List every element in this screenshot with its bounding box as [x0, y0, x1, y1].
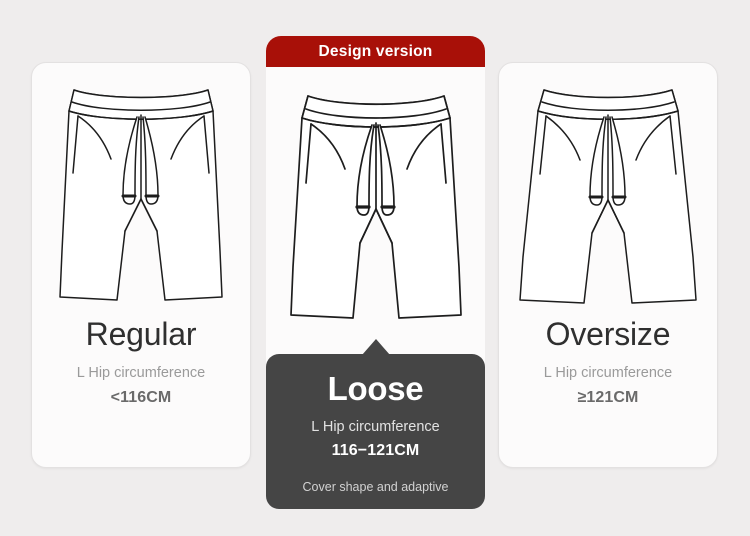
- fit-card-regular-text: Regular L Hip circumference <116CM: [32, 317, 250, 407]
- shorts-regular-icon: [32, 63, 250, 313]
- fit-name-loose: Loose: [328, 371, 424, 407]
- fit-measure-label-regular: L Hip circumference: [77, 365, 205, 382]
- fit-note-loose: Cover shape and adaptive: [303, 480, 449, 494]
- callout-notch-icon: [362, 339, 390, 355]
- fit-card-oversize[interactable]: Oversize L Hip circumference ≥121CM: [498, 62, 718, 468]
- loose-callout-body: Loose L Hip circumference 116−121CM Cove…: [266, 354, 485, 509]
- shorts-oversize-icon: [499, 63, 717, 313]
- fit-card-regular[interactable]: Regular L Hip circumference <116CM: [31, 62, 251, 468]
- fit-range-loose: 116−121CM: [332, 442, 420, 460]
- design-version-ribbon: Design version: [266, 36, 485, 67]
- loose-callout: Loose L Hip circumference 116−121CM Cove…: [266, 339, 485, 509]
- fit-name-regular: Regular: [86, 317, 197, 352]
- fit-measure-label-oversize: L Hip circumference: [544, 365, 672, 382]
- fit-comparison-stage: Regular L Hip circumference <116CM Desig…: [0, 0, 750, 536]
- fit-range-oversize: ≥121CM: [578, 389, 639, 407]
- fit-range-regular: <116CM: [111, 389, 172, 407]
- design-version-label: Design version: [319, 43, 433, 61]
- fit-card-oversize-text: Oversize L Hip circumference ≥121CM: [499, 317, 717, 407]
- fit-measure-label-loose: L Hip circumference: [311, 419, 439, 436]
- fit-name-oversize: Oversize: [546, 317, 671, 352]
- shorts-loose-icon: [266, 67, 485, 339]
